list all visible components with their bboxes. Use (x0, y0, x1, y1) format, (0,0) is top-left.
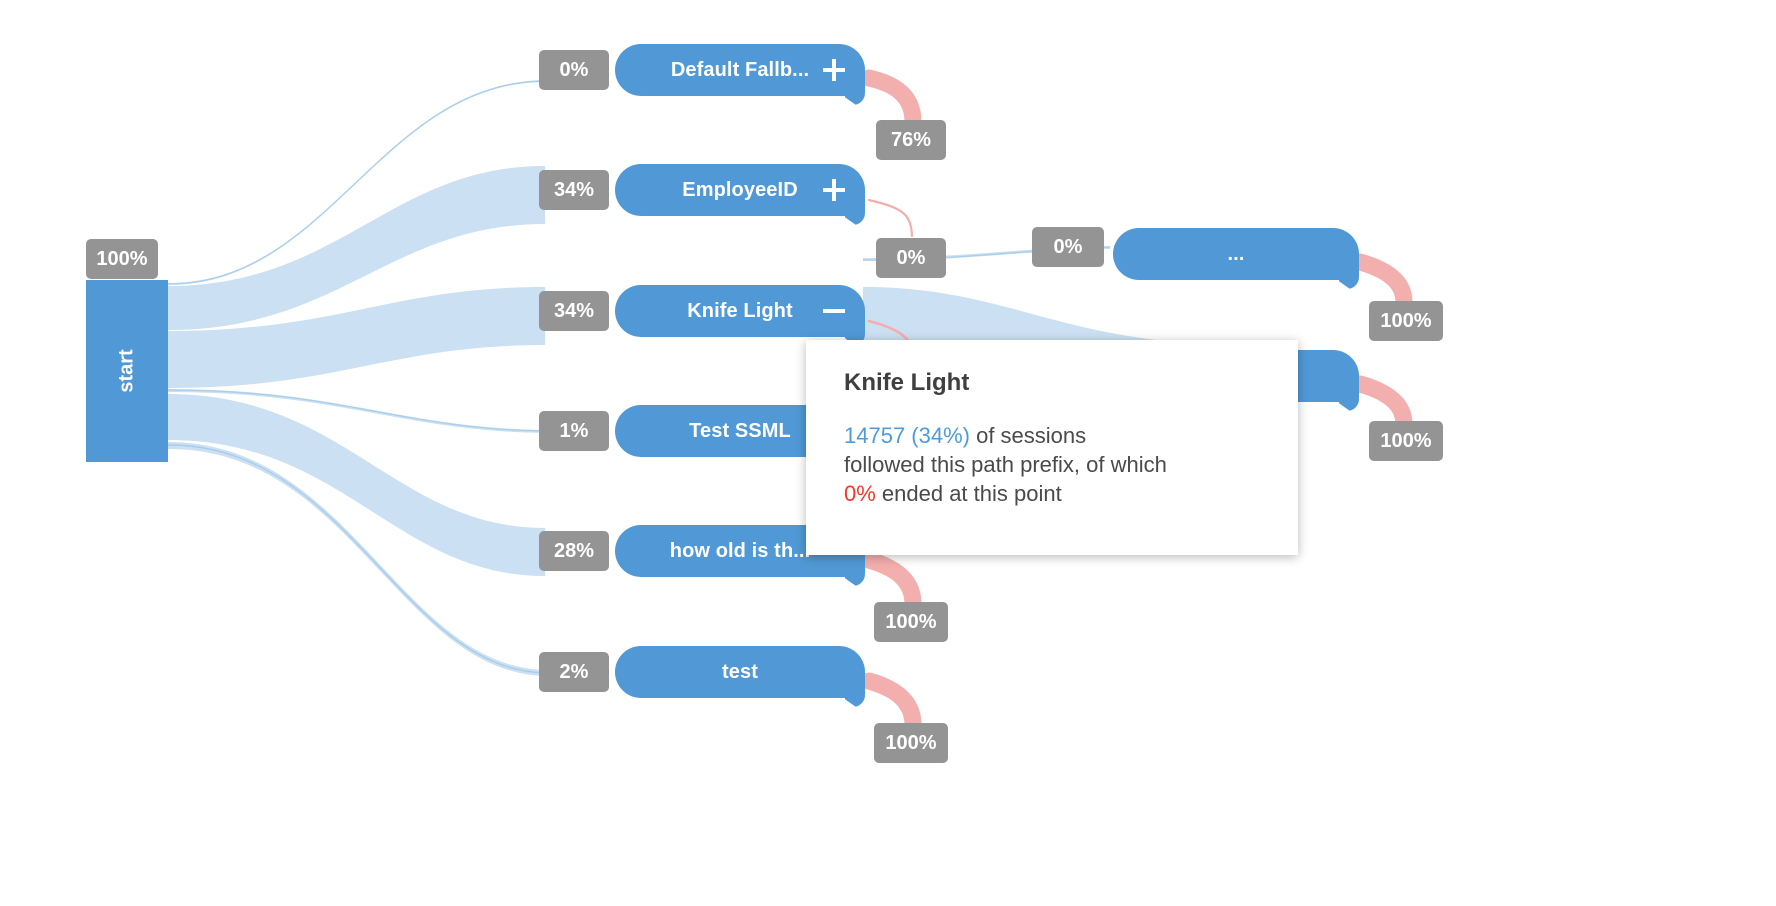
badge-test-ssml: 1% (539, 411, 609, 451)
exit-badge-how-old: 100% (874, 602, 948, 642)
node-test-ssml-label: Test SSML (689, 420, 791, 443)
start-node-label: start (116, 349, 139, 392)
node-how-old-is-th-label: how old is th... (670, 540, 810, 563)
plus-icon[interactable] (821, 177, 847, 203)
node-knife-light[interactable]: Knife Light (615, 285, 865, 337)
node-default-fallback-label: Default Fallb... (671, 59, 809, 82)
badge-ellipsis-node: 0% (1032, 227, 1104, 267)
exit-badge-ellipsis: 100% (1369, 301, 1443, 341)
badge-start: 100% (86, 239, 158, 279)
badge-knife-light: 34% (539, 291, 609, 331)
exit-badge-default-fallback: 76% (876, 120, 946, 160)
node-test-label: test (722, 661, 758, 684)
exit-badge-employeeid: 0% (876, 238, 946, 278)
exit-badge-test: 100% (874, 723, 948, 763)
plus-icon[interactable] (821, 57, 847, 83)
tooltip-line-2: followed this path prefix, of which (844, 451, 1264, 480)
tooltip-exit-pct: 0% (844, 481, 876, 506)
exit-badge-level2-second: 100% (1369, 421, 1443, 461)
node-employeeid-label: EmployeeID (682, 179, 797, 202)
flow-diagram-canvas: 100% start 0% 34% 34% 1% 28% 2% Default … (0, 0, 1776, 906)
node-test[interactable]: test (615, 646, 865, 698)
badge-default-fallback: 0% (539, 50, 609, 90)
exit-arc-ellipsis (1360, 262, 1404, 302)
node-ellipsis-label: ... (1228, 243, 1245, 266)
flow-to-how-old (168, 394, 545, 576)
tooltip-session-count: 14757 (34%) (844, 423, 970, 448)
start-node[interactable]: start (86, 280, 168, 462)
node-tooltip: Knife Light 14757 (34%) of sessions foll… (806, 340, 1298, 555)
tooltip-text-mid: of sessions (970, 423, 1086, 448)
node-ellipsis[interactable]: ... (1113, 228, 1359, 280)
tooltip-title: Knife Light (844, 370, 1264, 396)
exit-arc-default-fallback (869, 78, 913, 122)
exit-arc-how-old (869, 560, 913, 604)
badge-employeeid: 34% (539, 170, 609, 210)
exit-arc-level2-second (1360, 384, 1404, 424)
badge-test: 2% (539, 652, 609, 692)
minus-icon[interactable] (821, 298, 847, 324)
node-default-fallback[interactable]: Default Fallb... (615, 44, 865, 96)
tooltip-text-end: ended at this point (876, 481, 1062, 506)
node-knife-light-label: Knife Light (687, 300, 793, 323)
node-employeeid[interactable]: EmployeeID (615, 164, 865, 216)
exit-arc-employeeid (869, 200, 912, 236)
tooltip-body: 14757 (34%) of sessions followed this pa… (844, 422, 1264, 508)
badge-how-old: 28% (539, 531, 609, 571)
exit-arc-test (869, 681, 913, 725)
